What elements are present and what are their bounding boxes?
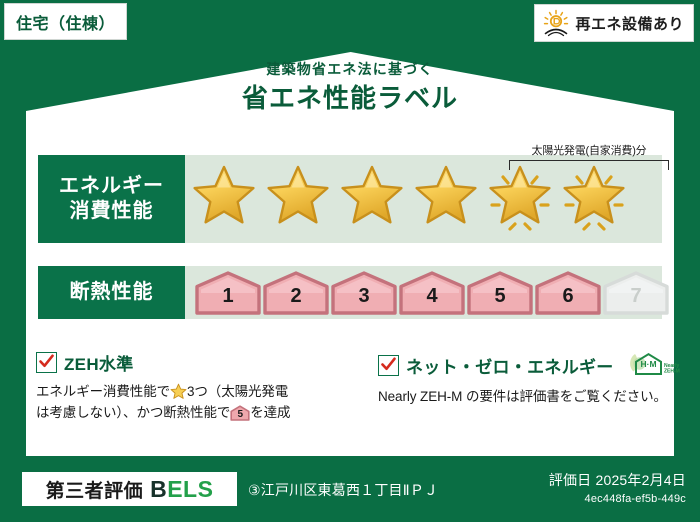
zeh-body-part3: は考慮しない）、かつ断熱性能で: [36, 405, 230, 420]
zeh-body-part1: エネルギー消費性能で: [36, 384, 170, 399]
third-party-label: 第三者評価: [46, 476, 144, 503]
criterion-zeh-title: ZEH水準: [64, 350, 134, 375]
insulation-grade-number: 2: [263, 271, 329, 315]
energy-label-line1: エネルギー: [59, 174, 164, 199]
insulation-grade-3: 3: [331, 271, 397, 315]
insulation-grade-number: 5: [467, 271, 533, 315]
solar-sun-icon: [541, 9, 571, 37]
criterion-zeh-header: ZEH水準: [36, 350, 356, 375]
evaluation-meta: 評価日 2025年2月4日 4ec448fa-ef5b-449c: [549, 470, 686, 505]
solar-generation-annotation: 太陽光発電(自家消費)分: [509, 146, 669, 180]
property-address: ③江戸川区東葛西１丁目ⅡＰＪ: [248, 480, 438, 500]
renewable-energy-label: 再エネ設備あり: [575, 13, 684, 34]
svg-text:ZEH-M: ZEH-M: [664, 369, 680, 375]
bels-certification-plate: 第三者評価 BELS: [22, 472, 237, 506]
insulation-grade-scale: 1234567: [185, 266, 662, 319]
label-subtitle: 建築物省エネ法に基づく: [0, 62, 700, 76]
house-grade-icon: 5: [230, 405, 250, 421]
checkbox-checked-icon: [36, 352, 57, 373]
energy-performance-label-box: エネルギー 消費性能: [38, 155, 185, 243]
insulation-grade-2: 2: [263, 271, 329, 315]
svg-text:H·M: H·M: [640, 359, 656, 369]
title-block: 建築物省エネ法に基づく 省エネ性能ラベル: [0, 62, 700, 111]
insulation-grade-number: 7: [603, 271, 669, 315]
footer: 第三者評価 BELS ③江戸川区東葛西１丁目ⅡＰＪ 評価日 2025年2月4日 …: [0, 466, 700, 522]
bels-logo: BELS: [150, 476, 213, 503]
insulation-performance-row: 断熱性能 1234567: [38, 266, 662, 319]
insulation-grade-7: 7: [603, 271, 669, 315]
document-type-label: 住宅（住棟）: [16, 10, 115, 34]
insulation-grade-5: 5: [467, 271, 533, 315]
criterion-net-zero-energy: ネット・ゼロ・エネルギー H·M Nearly ZEH-M Nearly ZEH…: [356, 350, 676, 450]
renewable-energy-badge: 再エネ設備あり: [534, 4, 694, 42]
solar-annotation-caption: 太陽光発電(自家消費)分: [509, 146, 669, 157]
zeh-body-part2: 3つ（太陽光発電: [187, 384, 288, 399]
evaluation-id: 4ec448fa-ef5b-449c: [549, 493, 686, 505]
criteria-section: ZEH水準 エネルギー消費性能で 3つ（太陽光発電は考慮しない）、かつ断熱性能で…: [36, 350, 676, 450]
criterion-zeh-standard: ZEH水準 エネルギー消費性能で 3つ（太陽光発電は考慮しない）、かつ断熱性能で…: [36, 350, 356, 450]
document-type-tab: 住宅（住棟）: [4, 3, 127, 40]
criterion-nze-header: ネット・ゼロ・エネルギー H·M Nearly ZEH-M: [378, 350, 676, 380]
insulation-grade-number: 3: [331, 271, 397, 315]
criterion-zeh-body: エネルギー消費性能で 3つ（太陽光発電は考慮しない）、かつ断熱性能で 5を達成: [36, 382, 356, 424]
insulation-grade-1: 1: [195, 271, 261, 315]
criterion-nze-title: ネット・ゼロ・エネルギー: [406, 353, 614, 378]
insulation-label-line1: 断熱性能: [70, 280, 154, 305]
insulation-grade-number: 6: [535, 271, 601, 315]
insulation-grade-4: 4: [399, 271, 465, 315]
house-grade-number: 5: [230, 405, 250, 421]
energy-performance-label: 住宅（住棟） 再エネ設備あり: [0, 0, 700, 522]
star-1: [187, 161, 261, 237]
criterion-nze-body: Nearly ZEH-M の要件は評価書をご覧ください。: [378, 387, 676, 408]
label-title: 省エネ性能ラベル: [0, 85, 700, 111]
nearly-zeh-m-logo: H·M Nearly ZEH-M: [624, 350, 684, 380]
star-2: [261, 161, 335, 237]
zeh-body-part4: を達成: [250, 405, 290, 420]
bels-logo-b: B: [150, 476, 167, 502]
checkbox-checked-icon: [378, 355, 399, 376]
evaluation-date: 評価日 2025年2月4日: [549, 470, 686, 490]
insulation-performance-label-box: 断熱性能: [38, 266, 185, 319]
solar-annotation-bracket: [509, 160, 669, 170]
star-3: [335, 161, 409, 237]
energy-label-line2: 消費性能: [70, 199, 154, 224]
star-4: [409, 161, 483, 237]
insulation-grade-6: 6: [535, 271, 601, 315]
star-icon: [170, 383, 187, 400]
insulation-grade-number: 1: [195, 271, 261, 315]
bels-logo-els: ELS: [167, 476, 213, 502]
insulation-grade-number: 4: [399, 271, 465, 315]
